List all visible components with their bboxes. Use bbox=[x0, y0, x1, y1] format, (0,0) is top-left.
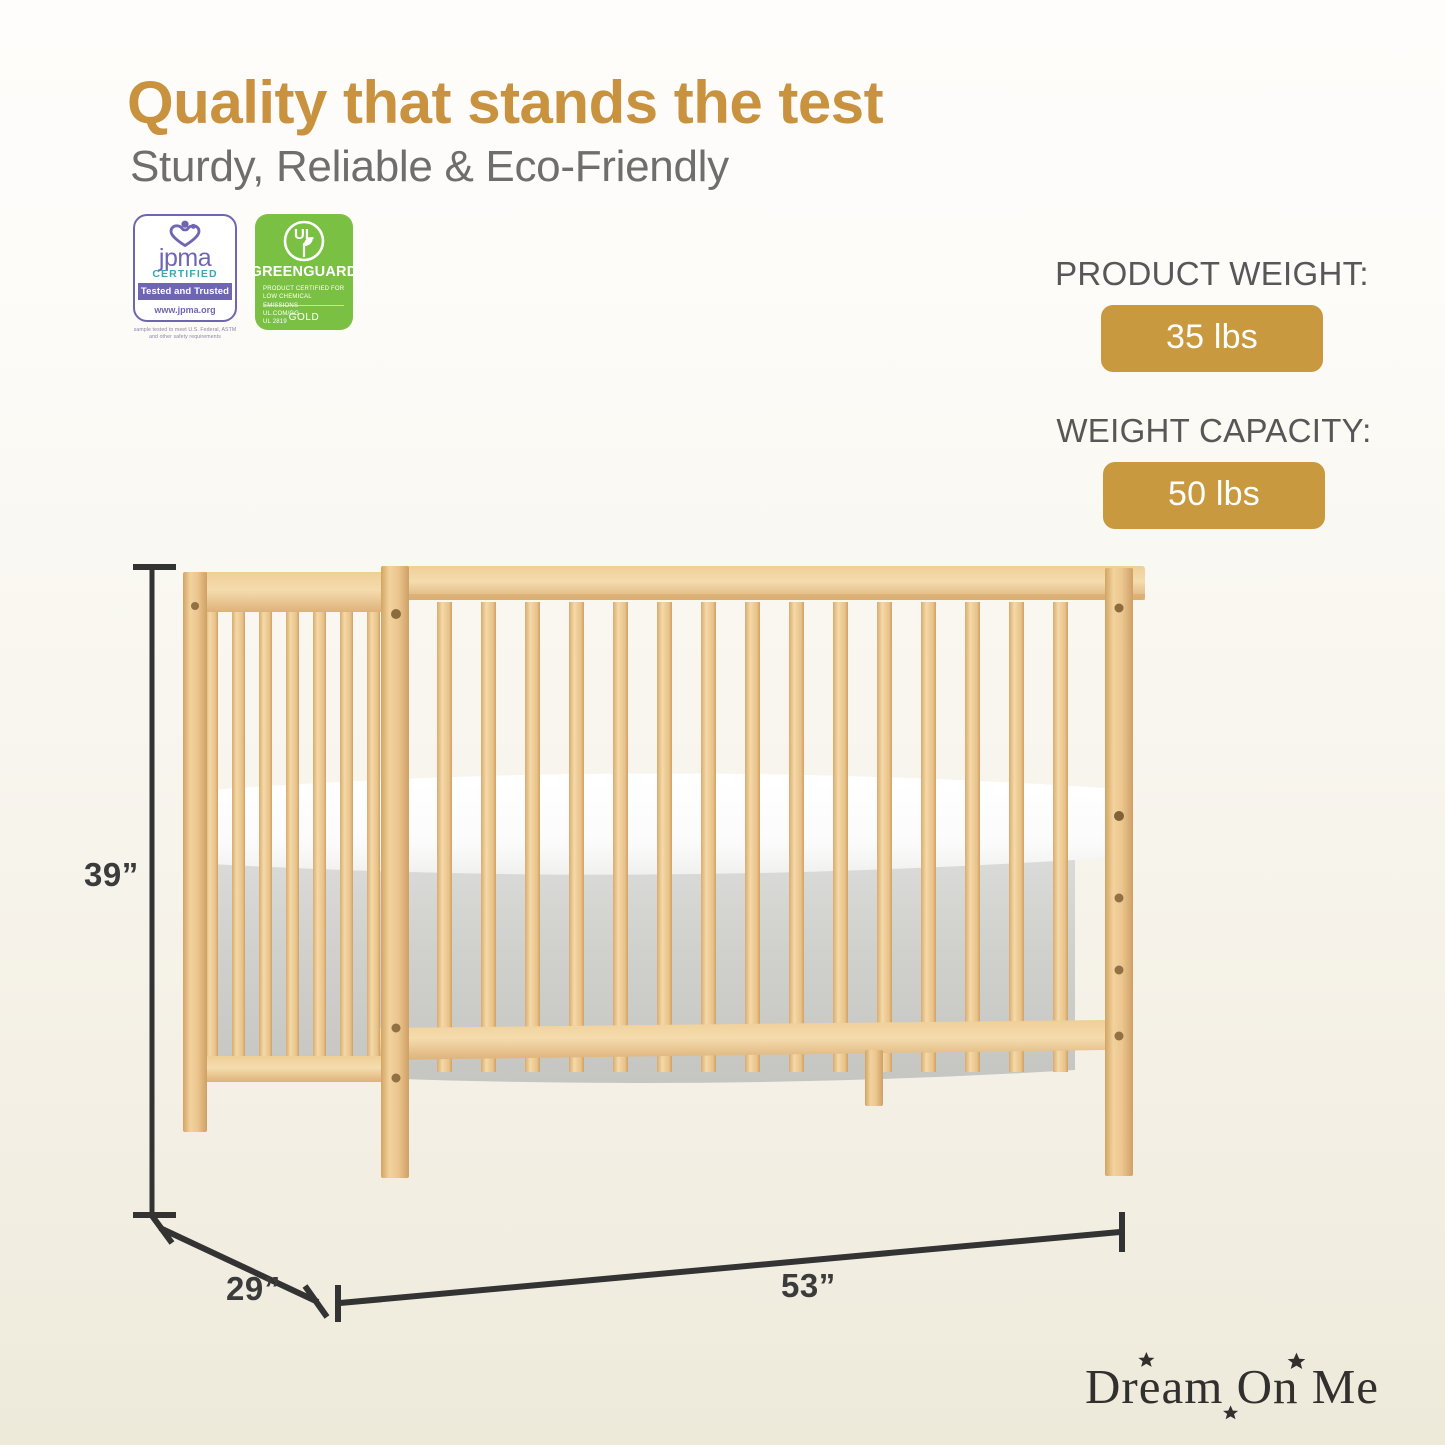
certification-badges: jpma CERTIFIED Tested and Trusted www.jp… bbox=[133, 214, 353, 341]
crib-product-image bbox=[175, 558, 1145, 1198]
greenguard-line-1: PRODUCT CERTIFIED FOR bbox=[263, 285, 345, 293]
width-dimension-line bbox=[340, 1232, 1120, 1303]
width-dimension-label: 53” bbox=[781, 1267, 836, 1305]
star-icon-top-left bbox=[1138, 1352, 1154, 1367]
jpma-tested-banner: Tested and Trusted bbox=[138, 283, 232, 300]
jpma-certified-label: CERTIFIED bbox=[152, 268, 217, 280]
weight-capacity-label: WEIGHT CAPACITY: bbox=[1040, 412, 1388, 450]
star-icon-bottom bbox=[1223, 1405, 1238, 1419]
crib-illustration bbox=[175, 558, 1145, 1198]
weight-capacity-spec: WEIGHT CAPACITY: 50 lbs bbox=[1040, 412, 1388, 529]
infographic-canvas: Quality that stands the test Sturdy, Rel… bbox=[0, 0, 1445, 1445]
page-subtitle: Sturdy, Reliable & Eco-Friendly bbox=[130, 142, 729, 192]
greenguard-wordmark: GREENGUARD bbox=[251, 264, 358, 280]
height-dimension-label: 39” bbox=[84, 856, 139, 894]
crib-post-left-rear bbox=[381, 566, 409, 1178]
brand-logo-stars bbox=[1085, 1352, 1395, 1424]
jpma-fine-print: sample tested to meet U.S. Federal, ASTM… bbox=[129, 327, 241, 341]
brand-logo: Dream On Me bbox=[1085, 1352, 1395, 1424]
depth-dimension-cap-right bbox=[305, 1286, 327, 1317]
jpma-family-heart-icon bbox=[166, 220, 204, 247]
depth-dimension-cap-left bbox=[150, 1213, 172, 1243]
crib-post-left-front bbox=[183, 572, 207, 1132]
crib-post-right bbox=[1105, 568, 1133, 1176]
jpma-certified-badge: jpma CERTIFIED Tested and Trusted www.jp… bbox=[133, 214, 237, 341]
page-title: Quality that stands the test bbox=[127, 68, 883, 137]
jpma-url: www.jpma.org bbox=[138, 300, 232, 315]
product-weight-spec: PRODUCT WEIGHT: 35 lbs bbox=[1042, 255, 1382, 372]
depth-dimension-label: 29” bbox=[226, 1270, 281, 1308]
crib-back-slats bbox=[437, 602, 1068, 1072]
jpma-wordmark: jpma bbox=[159, 248, 211, 268]
ul-leaf-icon: UL bbox=[283, 220, 325, 262]
jpma-card: jpma CERTIFIED Tested and Trusted www.jp… bbox=[133, 214, 237, 322]
product-weight-value: 35 lbs bbox=[1101, 305, 1323, 372]
crib-head-bottom-rail bbox=[189, 1056, 401, 1082]
greenguard-gold-badge: UL GREENGUARD PRODUCT CERTIFIED FOR LOW … bbox=[255, 214, 353, 330]
star-icon-top-right bbox=[1288, 1353, 1306, 1369]
greenguard-level: GOLD bbox=[289, 312, 320, 323]
greenguard-line-2: LOW CHEMICAL EMISSIONS bbox=[263, 293, 345, 310]
weight-capacity-value: 50 lbs bbox=[1103, 462, 1325, 529]
crib-head-top-rail bbox=[183, 572, 405, 612]
crib-center-leg bbox=[865, 1050, 883, 1106]
product-weight-label: PRODUCT WEIGHT: bbox=[1042, 255, 1382, 293]
greenguard-divider bbox=[264, 305, 344, 306]
